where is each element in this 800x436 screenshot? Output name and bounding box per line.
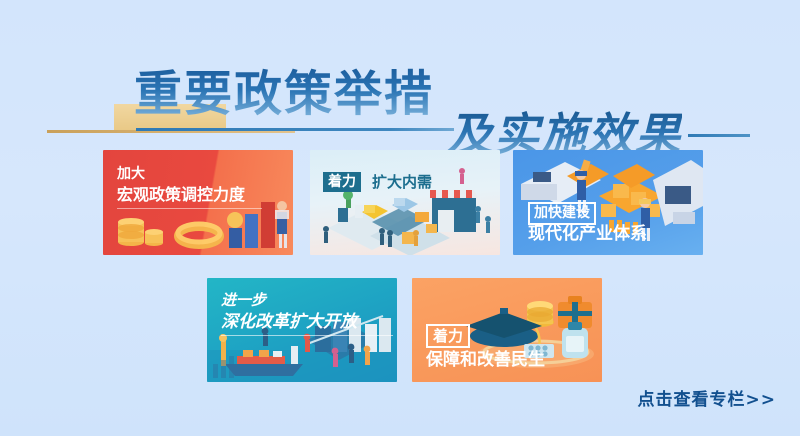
banner-title-block: 重要政策举措 及实施效果 xyxy=(0,34,800,144)
card-demand-tag: 着力 xyxy=(323,172,361,192)
title-blue-underline xyxy=(136,128,454,131)
card-livelihood-line2: 保障和改善民生 xyxy=(426,350,545,370)
card-industry-line1: 加快建设 xyxy=(528,202,596,225)
title-tail-rule xyxy=(688,134,750,137)
card-macro-underline xyxy=(117,208,262,209)
card-reform-line1: 进一步 xyxy=(221,292,266,309)
card-macro-policy[interactable]: 加大 宏观政策调控力度 xyxy=(103,150,293,255)
card-deepen-reform[interactable]: 进一步 深化改革扩大开放 xyxy=(207,278,397,382)
card-macro-line2: 宏观政策调控力度 xyxy=(117,185,245,205)
view-column-link[interactable]: 点击查看专栏>> xyxy=(638,385,777,410)
policy-measures-banner: 重要政策举措 及实施效果 xyxy=(0,0,800,436)
card-livelihood-tag: 着力 xyxy=(426,324,470,348)
card-peoples-livelihood[interactable]: 着力 保障和改善民生 xyxy=(412,278,602,382)
card-modern-industry[interactable]: 加快建设 现代化产业体系 xyxy=(513,150,703,255)
expand-demand-illustration xyxy=(310,150,500,255)
card-demand-line2: 扩大内需 xyxy=(372,172,432,192)
card-macro-line1: 加大 xyxy=(117,166,145,183)
page-title: 重要政策举措 xyxy=(134,68,434,120)
card-expand-demand[interactable]: 着力 扩大内需 xyxy=(310,150,500,255)
card-reform-line2: 深化改革扩大开放 xyxy=(221,312,357,332)
card-industry-line2: 现代化产业体系 xyxy=(528,224,647,244)
card-reform-underline xyxy=(221,335,393,336)
